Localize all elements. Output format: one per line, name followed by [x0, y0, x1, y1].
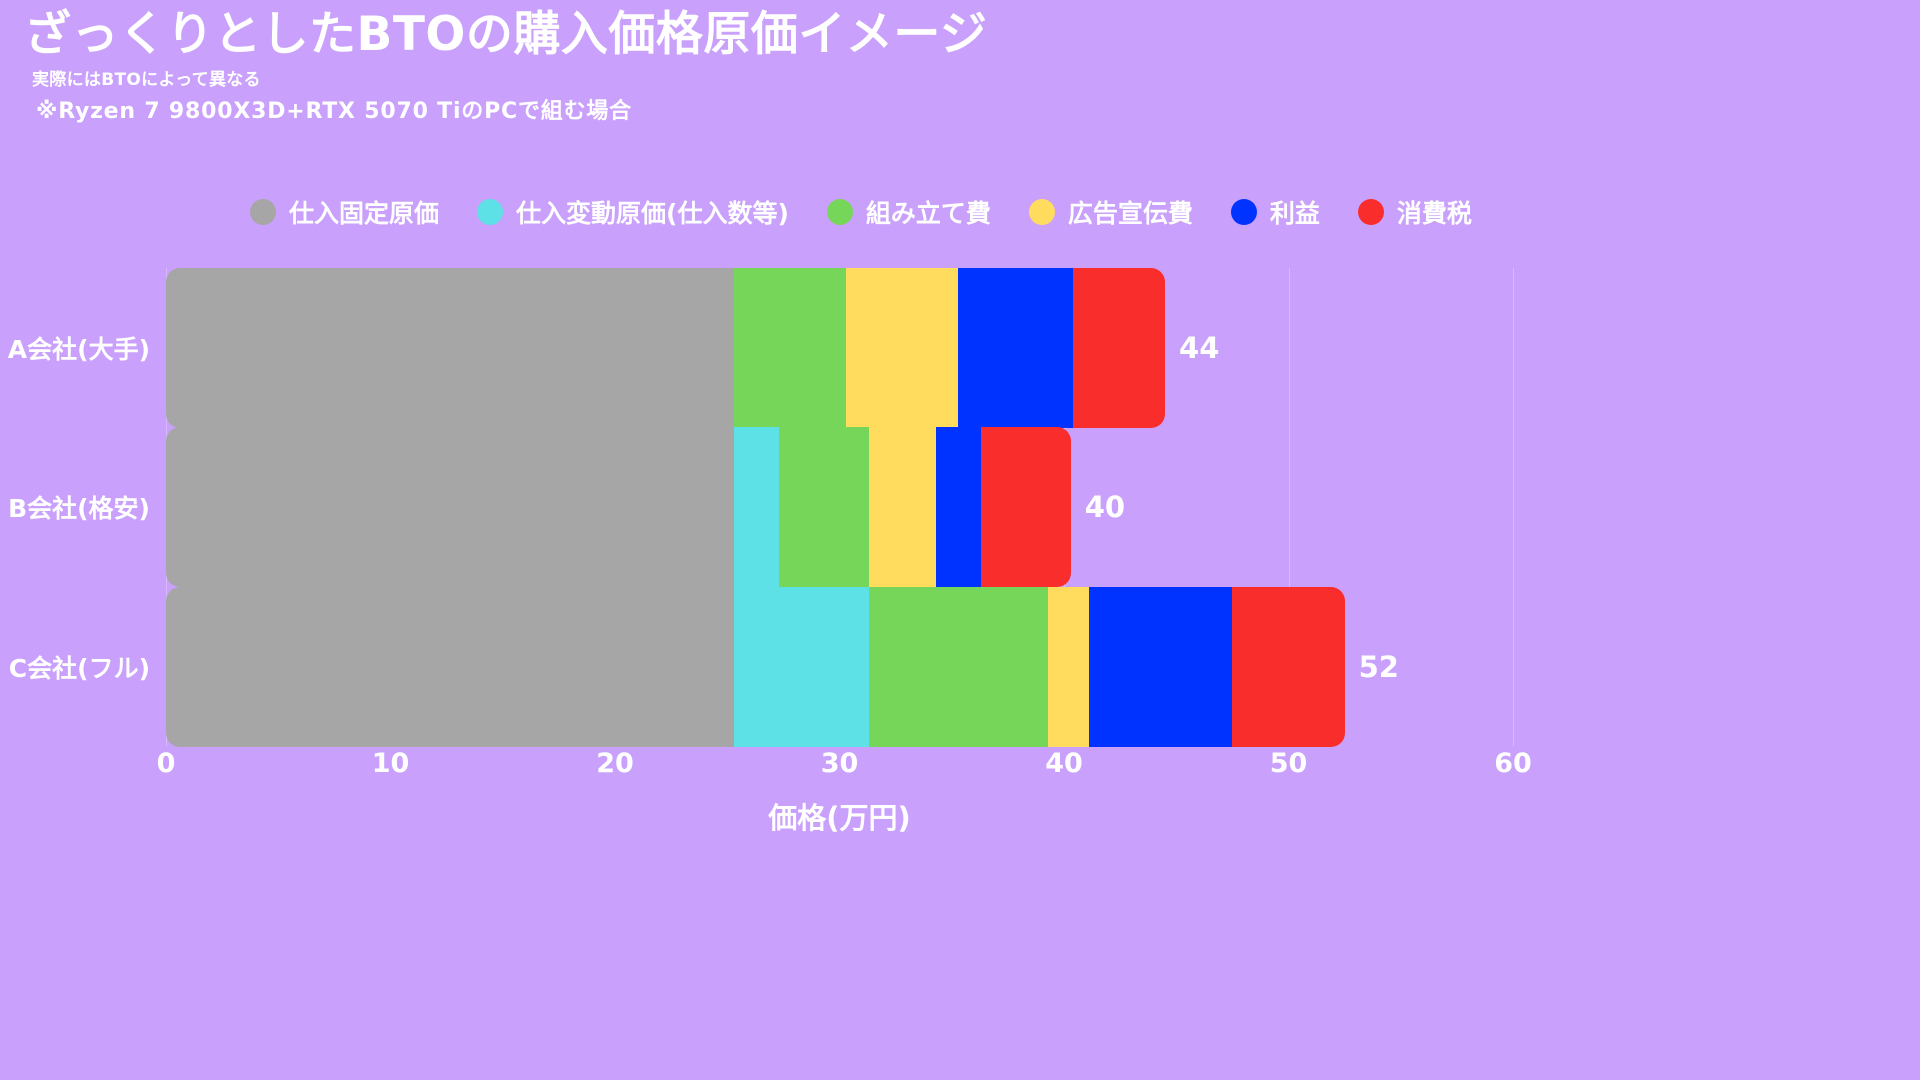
- bar-segment[interactable]: [846, 268, 958, 428]
- stacked-bar: [166, 268, 1165, 428]
- bar-segment[interactable]: [1232, 587, 1344, 747]
- legend-swatch-icon: [827, 199, 853, 225]
- legend-item-label: 仕入固定原価: [289, 194, 439, 230]
- chart-page: ざっくりとしたBTOの購入価格原価イメージ 実際にはBTOによって異なる ※Ry…: [0, 0, 1920, 1080]
- legend-swatch-icon: [1358, 199, 1384, 225]
- x-axis: 0102030405060: [166, 748, 1513, 788]
- legend-item[interactable]: 仕入固定原価: [250, 194, 439, 230]
- legend-swatch-icon: [1029, 199, 1055, 225]
- x-axis-tick-label: 20: [596, 748, 634, 779]
- bar-total-label: 44: [1179, 331, 1219, 365]
- bar-segment[interactable]: [734, 427, 779, 587]
- bar-segment[interactable]: [166, 268, 734, 428]
- bar-total-label: 52: [1359, 650, 1399, 684]
- page-title: ざっくりとしたBTOの購入価格原価イメージ: [24, 10, 1424, 59]
- bar-segment[interactable]: [734, 587, 869, 747]
- legend-swatch-icon: [1231, 199, 1257, 225]
- bar-segment[interactable]: [166, 427, 734, 587]
- x-axis-tick-label: 50: [1270, 748, 1308, 779]
- bar-segment[interactable]: [734, 268, 846, 428]
- bar-segment[interactable]: [1048, 587, 1088, 747]
- y-axis-tick-label: B会社(格安): [8, 489, 150, 525]
- x-axis-tick-label: 10: [372, 748, 410, 779]
- legend-item[interactable]: 組み立て費: [827, 194, 991, 230]
- x-axis-tick-label: 0: [157, 748, 176, 779]
- legend-item[interactable]: 広告宣伝費: [1029, 194, 1193, 230]
- gridline: [1513, 268, 1514, 746]
- x-axis-tick-label: 40: [1045, 748, 1083, 779]
- bar-segment[interactable]: [936, 427, 981, 587]
- bar-row: 40: [166, 427, 1513, 587]
- x-axis-label: 価格(万円): [166, 795, 1513, 837]
- legend-item[interactable]: 仕入変動原価(仕入数等): [477, 194, 789, 230]
- legend-item[interactable]: 利益: [1231, 194, 1320, 230]
- legend-item-label: 広告宣伝費: [1068, 194, 1193, 230]
- y-axis-tick-label: A会社(大手): [8, 330, 150, 366]
- legend-item-label: 消費税: [1397, 194, 1472, 230]
- bar-segment[interactable]: [1073, 268, 1165, 428]
- legend-item-label: 仕入変動原価(仕入数等): [516, 194, 789, 230]
- plot-area: 444052: [166, 268, 1513, 746]
- bar-segment[interactable]: [166, 587, 734, 747]
- y-axis: A会社(大手)B会社(格安)C会社(フル): [0, 268, 150, 746]
- chart-legend: 仕入固定原価仕入変動原価(仕入数等)組み立て費広告宣伝費利益消費税: [250, 192, 1472, 232]
- legend-item-label: 利益: [1270, 194, 1320, 230]
- bar-segment[interactable]: [981, 427, 1071, 587]
- legend-item[interactable]: 消費税: [1358, 194, 1472, 230]
- bar-row: 44: [166, 268, 1513, 428]
- bar-segment[interactable]: [958, 268, 1072, 428]
- bar-segment[interactable]: [779, 427, 869, 587]
- x-axis-tick-label: 60: [1494, 748, 1532, 779]
- bar-segment[interactable]: [869, 587, 1049, 747]
- bar-row: 52: [166, 587, 1513, 747]
- legend-item-label: 組み立て費: [866, 194, 991, 230]
- y-axis-tick-label: C会社(フル): [9, 649, 150, 685]
- chart-subtitle-line-1: 実際にはBTOによって異なる: [32, 65, 1424, 90]
- bar-segment[interactable]: [869, 427, 936, 587]
- stacked-bar: [166, 587, 1345, 747]
- bar-segment[interactable]: [1089, 587, 1233, 747]
- stacked-bar: [166, 427, 1071, 587]
- chart-header: ざっくりとしたBTOの購入価格原価イメージ 実際にはBTOによって異なる ※Ry…: [24, 10, 1424, 125]
- legend-swatch-icon: [250, 199, 276, 225]
- chart-subtitle-line-2: ※Ryzen 7 9800X3D+RTX 5070 TiのPCで組む場合: [36, 93, 1424, 125]
- bar-total-label: 40: [1085, 490, 1125, 524]
- x-axis-tick-label: 30: [821, 748, 859, 779]
- legend-swatch-icon: [477, 199, 503, 225]
